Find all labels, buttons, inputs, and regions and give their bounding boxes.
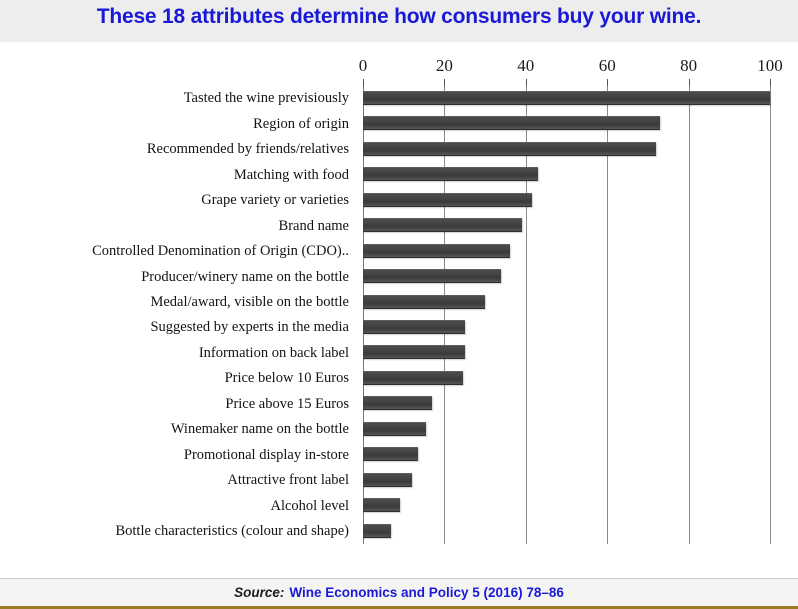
bar — [363, 371, 463, 385]
bar — [363, 269, 501, 283]
bar-row — [363, 264, 770, 289]
category-label: Producer/winery name on the bottle — [141, 270, 355, 285]
bar — [363, 473, 412, 487]
bar-row — [363, 239, 770, 264]
bar — [363, 193, 532, 207]
category-label: Alcohol level — [270, 499, 355, 514]
bar-row — [363, 213, 770, 238]
category-label: Grape variety or varieties — [201, 193, 355, 208]
bar — [363, 447, 418, 461]
category-label: Recommended by friends/relatives — [147, 142, 355, 157]
x-tick-label-0: 0 — [359, 56, 368, 76]
category-label-row: Promotional display in-store — [0, 442, 355, 467]
tick-mark-40 — [526, 79, 527, 86]
bar — [363, 345, 465, 359]
x-tick-label-80: 80 — [680, 56, 697, 76]
bar-row — [363, 366, 770, 391]
bar-row — [363, 340, 770, 365]
x-tick-label-100: 100 — [757, 56, 783, 76]
header-band: These 18 attributes determine how consum… — [0, 0, 798, 43]
category-label: Brand name — [279, 219, 355, 234]
category-label-row: Medal/award, visible on the bottle — [0, 290, 355, 315]
category-label-row: Tasted the wine previsiously — [0, 86, 355, 111]
footer-source-citation: Wine Economics and Policy 5 (2016) 78–86 — [289, 585, 564, 600]
bar-row — [363, 442, 770, 467]
category-label: Region of origin — [253, 117, 355, 132]
bar-row — [363, 290, 770, 315]
bar — [363, 244, 510, 258]
bar-row — [363, 162, 770, 187]
category-label: Price above 15 Euros — [225, 397, 355, 412]
category-label-row: Suggested by experts in the media — [0, 315, 355, 340]
category-label: Suggested by experts in the media — [150, 320, 355, 335]
bar-row — [363, 519, 770, 544]
tick-mark-60 — [607, 79, 608, 86]
bar-row — [363, 111, 770, 136]
bar-row — [363, 417, 770, 442]
x-tick-label-20: 20 — [436, 56, 453, 76]
bar — [363, 167, 538, 181]
bar — [363, 91, 770, 105]
category-label-row: Alcohol level — [0, 493, 355, 518]
category-label: Controlled Denomination of Origin (CDO).… — [92, 244, 355, 259]
gridline-100 — [770, 86, 771, 544]
category-label-row: Brand name — [0, 213, 355, 238]
category-label-row: Recommended by friends/relatives — [0, 137, 355, 162]
category-label: Promotional display in-store — [184, 448, 355, 463]
category-label-row: Winemaker name on the bottle — [0, 417, 355, 442]
tick-mark-0 — [363, 79, 364, 86]
bar — [363, 396, 432, 410]
category-label: Bottle characteristics (colour and shape… — [115, 524, 355, 539]
bar-row — [363, 188, 770, 213]
category-label: Tasted the wine previsiously — [184, 91, 355, 106]
footer-source: Source:Wine Economics and Policy 5 (2016… — [234, 585, 564, 600]
category-label-row: Matching with food — [0, 162, 355, 187]
category-label: Winemaker name on the bottle — [171, 422, 355, 437]
bar-row — [363, 86, 770, 111]
bar — [363, 116, 660, 130]
category-label: Information on back label — [199, 346, 355, 361]
bar — [363, 498, 400, 512]
tick-mark-80 — [689, 79, 690, 86]
x-tick-label-60: 60 — [599, 56, 616, 76]
category-label-row: Information on back label — [0, 340, 355, 365]
bar-row — [363, 391, 770, 416]
bar — [363, 422, 426, 436]
category-label-row: Price below 10 Euros — [0, 366, 355, 391]
bar — [363, 320, 465, 334]
tick-mark-100 — [770, 79, 771, 86]
category-label-row: Grape variety or varieties — [0, 188, 355, 213]
bar-row — [363, 137, 770, 162]
category-label-row: Controlled Denomination of Origin (CDO).… — [0, 239, 355, 264]
chart-container: Tasted the wine previsiouslyRegion of or… — [0, 42, 798, 562]
category-label-row: Price above 15 Euros — [0, 391, 355, 416]
tick-mark-20 — [444, 79, 445, 86]
category-label-row: Region of origin — [0, 111, 355, 136]
footer-source-label: Source: — [234, 585, 284, 600]
plot-area: 020406080100 — [363, 86, 770, 544]
bar — [363, 295, 485, 309]
bar — [363, 524, 391, 538]
bar — [363, 142, 656, 156]
category-axis-labels: Tasted the wine previsiouslyRegion of or… — [0, 86, 355, 544]
category-label-row: Attractive front label — [0, 468, 355, 493]
x-tick-label-40: 40 — [517, 56, 534, 76]
bar-series — [363, 86, 770, 544]
category-label: Price below 10 Euros — [225, 371, 355, 386]
footer-bar: Source:Wine Economics and Policy 5 (2016… — [0, 578, 798, 609]
category-label: Medal/award, visible on the bottle — [150, 295, 355, 310]
page-title: These 18 attributes determine how consum… — [0, 5, 798, 29]
category-label: Matching with food — [234, 168, 355, 183]
bar-row — [363, 493, 770, 518]
category-label: Attractive front label — [227, 473, 355, 488]
category-label-row: Producer/winery name on the bottle — [0, 264, 355, 289]
bar-row — [363, 468, 770, 493]
bar — [363, 218, 522, 232]
category-label-row: Bottle characteristics (colour and shape… — [0, 519, 355, 544]
bar-row — [363, 315, 770, 340]
